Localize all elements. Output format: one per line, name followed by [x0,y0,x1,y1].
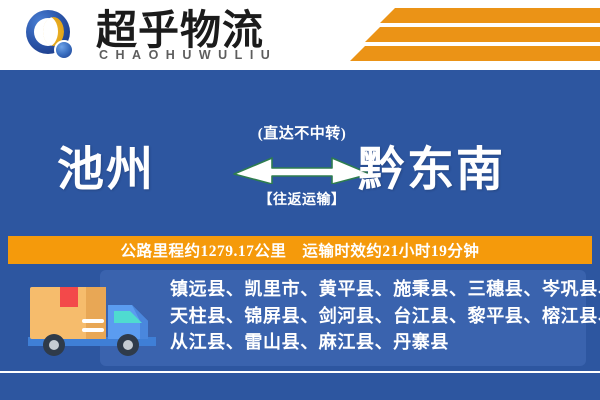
logistics-route-banner: 超乎物流 CHAOHUWULIU 池州 (直达不中转) 【往返运输】 黔东南 公… [0,0,600,400]
circle-q-logo-icon [26,10,78,62]
brand-name-cn: 超乎物流 [96,8,264,52]
logo-accent-dot [54,40,74,60]
direct-service-note: (直达不中转) [232,122,372,143]
destination-city: 黔东南 [358,131,505,200]
distance-duration-text: 公路里程约1279.17公里 运输时效约21小时19分钟 [121,239,480,261]
delivery-truck-icon [26,281,164,361]
orange-speed-stripes-icon [340,6,600,64]
coverage-line-2: 天柱县、锦屏县、剑河县、台江县、黎平县、榕江县、 [170,303,590,330]
distance-duration-bar: 公路里程约1279.17公里 运输时效约21小时19分钟 [8,236,592,264]
coverage-line-3: 从江县、雷山县、麻江县、丹寨县 [170,329,590,356]
coverage-line-1: 镇远县、凯里市、黄平县、施秉县、三穗县、岑巩县、 [170,276,590,303]
route-middle-block: (直达不中转) 【往返运输】 [232,122,372,209]
bottom-divider [0,371,600,373]
route-panel: 池州 (直达不中转) 【往返运输】 黔东南 [0,70,600,232]
bidirectional-arrow-icon [232,150,372,184]
origin-city: 池州 [57,131,155,200]
coverage-panel: 镇远县、凯里市、黄平县、施秉县、三穗县、岑巩县、 天柱县、锦屏县、剑河县、台江县… [0,264,600,400]
brand-name-en: CHAOHUWULIU [99,48,277,62]
coverage-county-list: 镇远县、凯里市、黄平县、施秉县、三穗县、岑巩县、 天柱县、锦屏县、剑河县、台江县… [170,276,590,356]
round-trip-note: 【往返运输】 [232,189,372,209]
banner-header: 超乎物流 CHAOHUWULIU [0,0,600,70]
